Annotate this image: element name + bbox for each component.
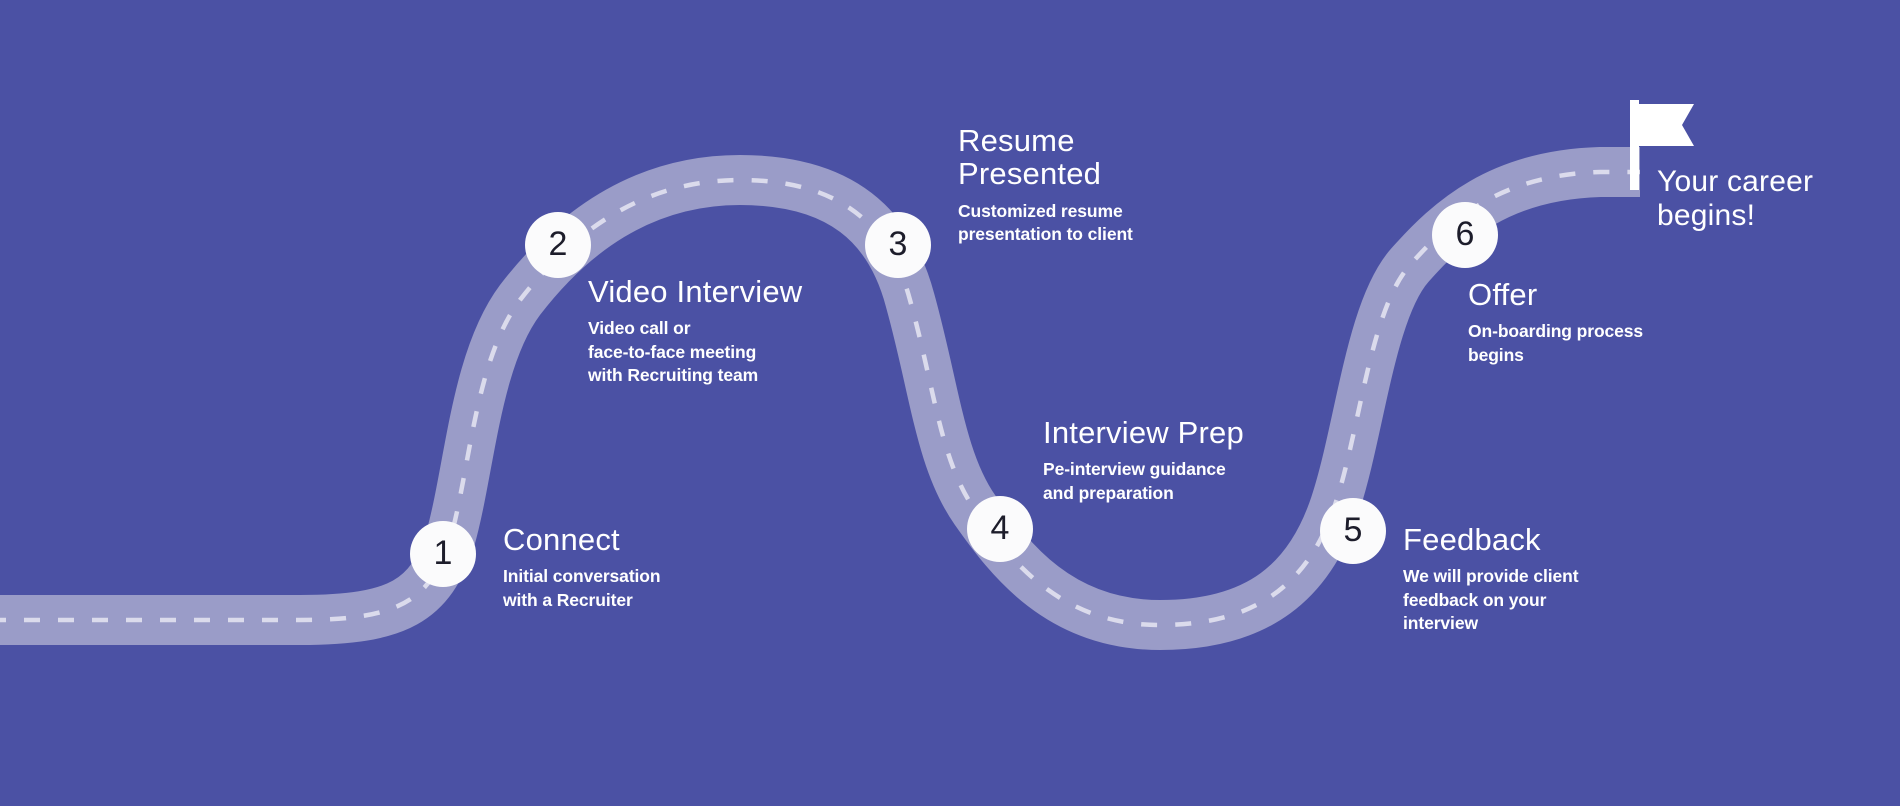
step-desc-2: Video call or face-to-face meeting with … [588,317,928,387]
step-content-4: Interview Prep Pe-interview guidance and… [1043,416,1383,505]
step-content-2: Video Interview Video call or face-to-fa… [588,275,928,387]
step-marker-3[interactable]: 3 [865,212,931,278]
step-number-3: 3 [889,227,908,261]
end-label: Your career begins! [1657,165,1887,233]
step-desc-3: Customized resume presentation to client [958,200,1298,247]
step-number-2: 2 [549,227,568,261]
step-desc-4: Pe-interview guidance and preparation [1043,458,1383,505]
step-content-3: Resume Presented Customized resume prese… [958,124,1298,246]
roadmap-infographic: 1 Connect Initial conversation with a Re… [0,0,1900,806]
step-title-4: Interview Prep [1043,416,1383,449]
step-number-5: 5 [1344,513,1363,547]
step-title-2: Video Interview [588,275,928,308]
step-marker-6[interactable]: 6 [1432,202,1498,268]
step-marker-1[interactable]: 1 [410,521,476,587]
step-content-5: Feedback We will provide client feedback… [1403,523,1743,635]
step-title-5: Feedback [1403,523,1743,556]
step-content-6: Offer On-boarding process begins [1468,278,1808,367]
step-number-6: 6 [1456,217,1475,251]
step-desc-6: On-boarding process begins [1468,320,1808,367]
winding-road [0,0,1900,806]
step-title-3: Resume Presented [958,124,1298,191]
step-marker-5[interactable]: 5 [1320,498,1386,564]
step-marker-4[interactable]: 4 [967,496,1033,562]
step-title-1: Connect [503,523,823,556]
step-desc-1: Initial conversation with a Recruiter [503,565,823,612]
step-number-4: 4 [991,511,1010,545]
step-desc-5: We will provide client feedback on your … [1403,565,1743,635]
step-marker-2[interactable]: 2 [525,212,591,278]
step-content-1: Connect Initial conversation with a Recr… [503,523,823,612]
step-number-1: 1 [434,536,453,570]
step-title-6: Offer [1468,278,1808,311]
